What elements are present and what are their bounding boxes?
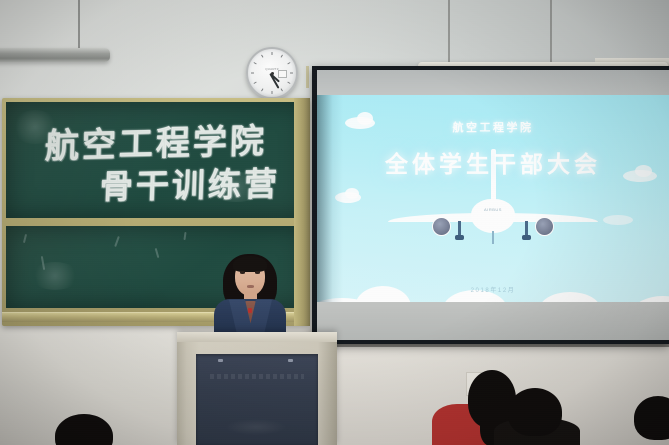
blackboard-right-post [294,98,310,326]
blackboard-subline: 骨干训练营 [6,156,306,210]
lectern-engraving [210,374,304,379]
chalk-streak [155,248,160,258]
airplane-livery-text: AIRBUS [478,207,508,212]
wall-clock: QUARTZ [246,47,298,99]
airplane-wheel [455,235,464,240]
clock-face: QUARTZ [251,52,293,94]
airplane-engine-left [432,217,451,236]
classroom-photo: QUARTZ 航空工程学院 骨干训练营 [0,0,669,445]
chalk-streak [23,234,27,243]
lectern [177,332,337,445]
projection-screen: AIRBUS [317,70,669,340]
light-suspension-rod-1 [78,0,80,48]
presenter-hair-fringe [233,256,267,272]
screen-top-band [317,70,669,95]
presentation-slide: AIRBUS [317,95,669,302]
clock-tick [288,82,291,84]
screen-bottom-band [317,302,669,340]
clock-tick [254,82,257,84]
airplane-landing-gear-right [525,221,528,237]
clock-tick [281,89,283,92]
presenter-eye-left [240,271,245,274]
presenter-eye-right [255,271,260,274]
clock-tick [291,73,294,74]
presenter-mouth [247,285,254,288]
chalk-streak [114,236,120,247]
cloud-decoration [345,188,359,199]
slide-date: 2018年12月 [317,285,669,294]
audience-member-right [634,396,669,440]
slide-subtitle: 航空工程学院 [317,119,669,135]
clock-tick [254,62,257,64]
lectern-fastener [288,359,293,362]
lectern-front-panel [196,354,318,445]
clock-tick [272,92,273,95]
chalk-streak [183,232,186,240]
wall-seam-line [300,344,669,347]
wall-hook [306,66,309,88]
airplane-landing-gear-left [458,221,461,237]
presenter [208,252,292,344]
presenter-badge [248,308,252,313]
clock-tick [281,55,283,58]
clock-tick [251,73,254,74]
clock-tick [288,62,291,64]
clock-tick [261,55,263,58]
lectern-fastener [218,359,223,362]
airplane-nose-gear [492,231,494,244]
airplane-fuselage [471,199,515,233]
audience-member-center [508,388,562,436]
slide-edge-shadow [317,95,343,302]
lectern-highlight [226,419,286,435]
cloud-decoration [603,215,633,225]
airplane-graphic: AIRBUS [388,191,598,263]
clock-date-window [278,70,287,78]
airplane-wheel [522,235,531,240]
blackboard-divider [2,218,310,226]
airplane-engine-right [535,217,554,236]
blackboard-upper-panel: 航空工程学院 骨干训练营 [6,102,306,218]
clock-tick [261,89,263,92]
clock-center-pin [271,72,274,75]
slide-main-title: 全体学生干部大会 [317,145,669,179]
chalk-smudge [30,262,80,290]
ceiling-light-left [0,48,110,62]
clock-tick [272,52,273,55]
cloud-bank [317,266,669,302]
lectern-top-edge [177,332,337,342]
